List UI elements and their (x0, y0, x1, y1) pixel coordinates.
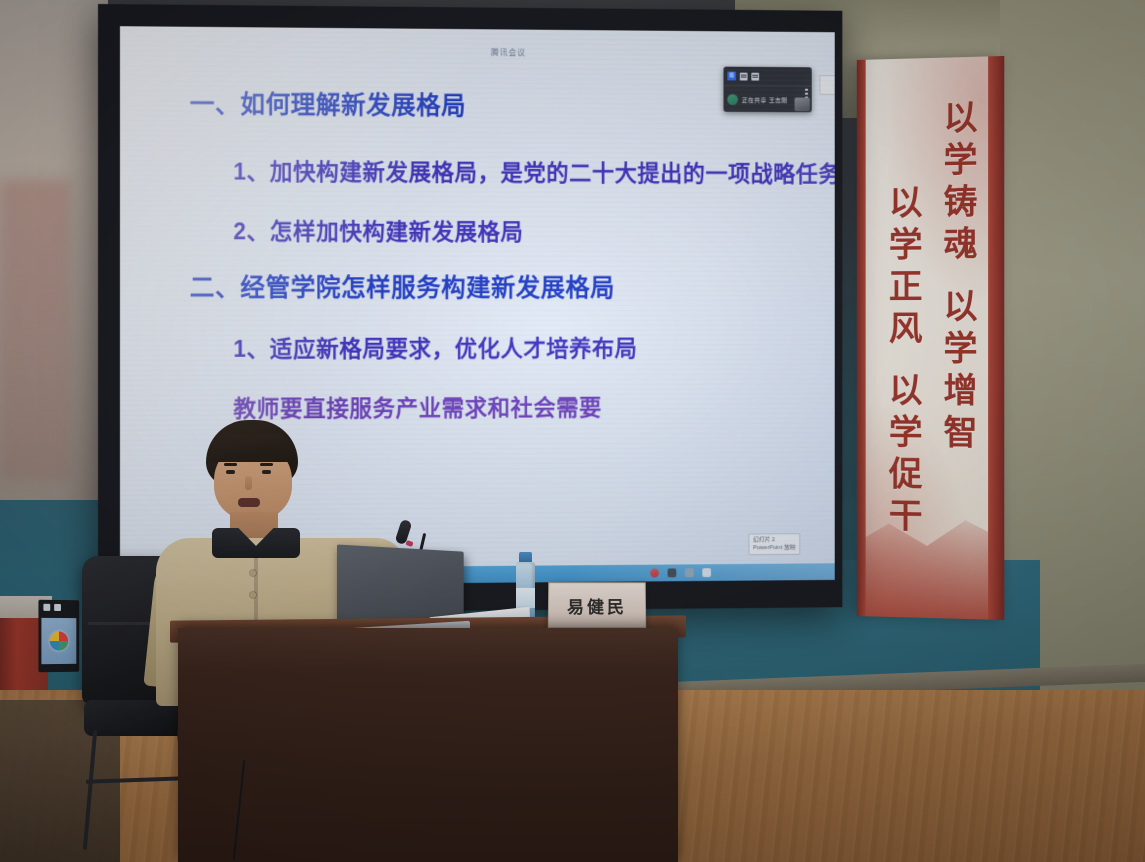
spacer (190, 186, 810, 214)
folder-icon (54, 604, 61, 611)
participants-icon[interactable] (740, 72, 748, 80)
desktop-icon (43, 604, 50, 611)
side-monitor-screen (41, 618, 76, 664)
banner-edge-left (857, 60, 866, 616)
windows-logo-icon (50, 631, 68, 650)
nameplate-text: 易健民 (567, 593, 627, 618)
more-options-icon[interactable] (805, 89, 808, 98)
meeting-app-badge: 腾 (727, 72, 736, 81)
spacer (190, 304, 810, 330)
shirt-button (250, 592, 256, 598)
eye (226, 470, 235, 474)
slide-line-6: 教师要直接服务产业需求和社会需要 (233, 388, 810, 423)
chat-icon[interactable] (751, 72, 759, 80)
side-monitor (38, 600, 79, 673)
nose (245, 476, 252, 490)
nameplate: 易健民 (548, 582, 646, 628)
participant-video-thumbnail[interactable] (795, 98, 810, 112)
bottle-label (516, 588, 535, 608)
desktop-tooltip: 幻灯片 2 PowerPoint 放映 (748, 533, 800, 555)
avatar (727, 94, 738, 105)
shirt-placket (254, 556, 258, 620)
side-monitor-icons (43, 604, 61, 611)
spacer (190, 246, 810, 269)
window-controls[interactable]: — ✕ (819, 75, 834, 95)
meeting-overlay-toolbar[interactable]: 腾 (724, 67, 812, 87)
lecture-hall-photo: 以学铸魂 以学增智 以学正风 以学促干 腾讯会议 一、如何理解新发展格局 1、加… (0, 0, 1145, 862)
podium (178, 628, 678, 862)
participant-name: 正在共享 王志刚 (742, 95, 788, 104)
slide-line-3: 2、怎样加快构建新发展格局 (233, 212, 810, 247)
banner-column-right: 以学铸魂 以学增智 (933, 99, 982, 620)
eye (262, 470, 271, 474)
hair-fringe (208, 434, 296, 462)
left-wall-pink-shadow (0, 180, 70, 480)
banner-text-columns: 以学铸魂 以学增智 以学正风 以学促干 (857, 56, 1004, 620)
wall-banner: 以学铸魂 以学增智 以学正风 以学促干 (857, 56, 1004, 620)
shirt-button (250, 570, 256, 576)
eyebrow (224, 463, 237, 466)
media-icon[interactable] (702, 568, 711, 577)
mouth (238, 498, 260, 507)
slide-line-2: 1、加快构建新发展格局，是党的二十大提出的一项战略任务 (233, 153, 810, 189)
spacer (190, 363, 810, 390)
banner-column-left: 以学正风 以学促干 (878, 184, 927, 618)
banner-edge-right (988, 56, 1004, 620)
browser-icon[interactable] (668, 568, 677, 577)
meeting-overlay-panel[interactable]: 腾 正在共享 王志刚 (724, 67, 812, 113)
spacer (190, 121, 810, 156)
windows-start-icon[interactable] (650, 569, 659, 578)
eyebrow (260, 463, 273, 466)
explorer-icon[interactable] (685, 568, 694, 577)
meeting-participant-row[interactable]: 正在共享 王志刚 (724, 86, 812, 112)
slide-line-4: 二、经管学院怎样服务构建新发展格局 (190, 268, 810, 304)
slide-line-5: 1、适应新格局要求，优化人才培养布局 (233, 330, 810, 364)
slide-line-1: 一、如何理解新发展格局 (190, 85, 810, 124)
tooltip-line-2: PowerPoint 放映 (753, 544, 796, 552)
